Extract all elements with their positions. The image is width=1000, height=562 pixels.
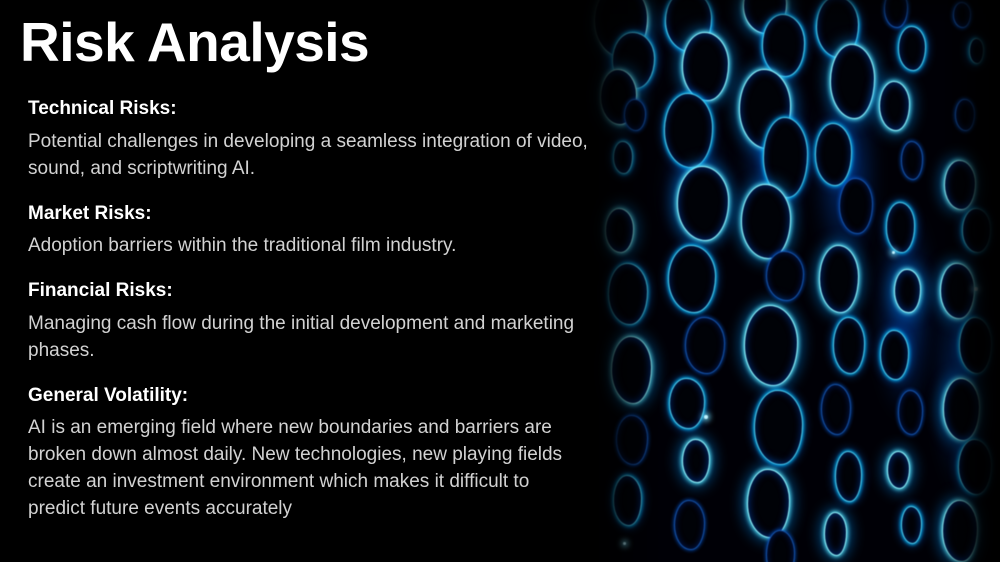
risk-section-technical: Technical Risks: Potential challenges in… xyxy=(28,96,598,183)
page-title: Risk Analysis xyxy=(20,14,369,72)
risk-section-general-volatility: General Volatility: AI is an emerging fi… xyxy=(28,383,598,524)
risk-description: Managing cash flow during the initial de… xyxy=(28,311,590,365)
risk-heading: Technical Risks: xyxy=(28,96,598,122)
risk-section-market: Market Risks: Adoption barriers within t… xyxy=(28,201,598,261)
abstract-blue-cellular-image xyxy=(576,0,1000,562)
risk-description: Potential challenges in developing a sea… xyxy=(28,129,590,183)
artwork-stream xyxy=(737,0,809,562)
artwork-stream xyxy=(873,0,937,562)
slide-content: Risk Analysis Technical Risks: Potential… xyxy=(0,0,600,562)
artwork-right-fade xyxy=(940,0,1000,562)
risk-section-financial: Financial Risks: Managing cash flow duri… xyxy=(28,278,598,365)
risk-description: Adoption barriers within the traditional… xyxy=(28,233,590,260)
risk-heading: General Volatility: xyxy=(28,383,598,409)
risk-heading: Financial Risks: xyxy=(28,278,598,304)
risk-heading: Market Risks: xyxy=(28,201,598,227)
risk-description: AI is an emerging field where new bounda… xyxy=(28,415,590,523)
risk-sections: Technical Risks: Potential challenges in… xyxy=(28,96,598,523)
artwork-stream xyxy=(661,0,733,562)
presentation-slide: Risk Analysis Technical Risks: Potential… xyxy=(0,0,1000,562)
